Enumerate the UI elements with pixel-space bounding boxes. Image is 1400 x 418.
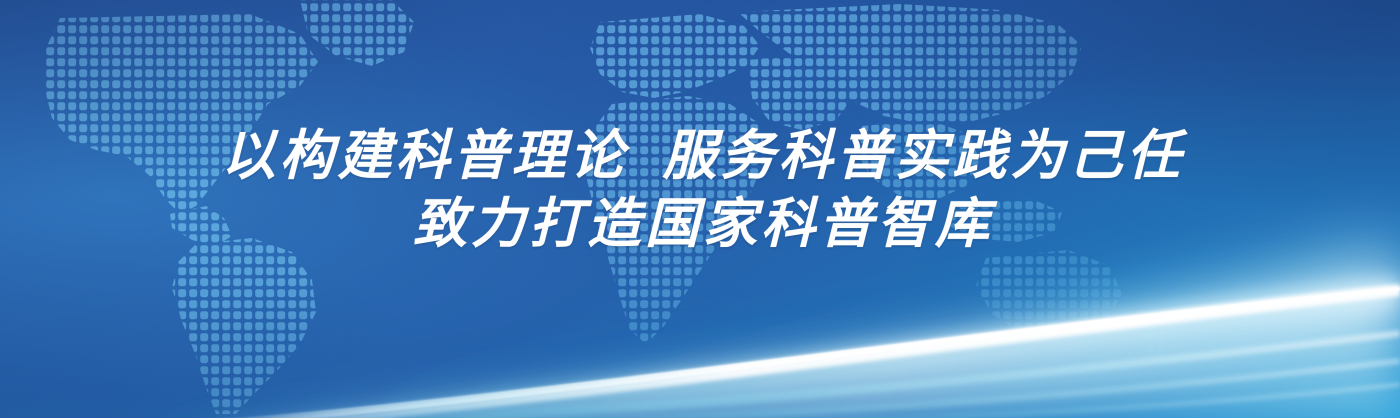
banner-headline: 以构建科普理论 服务科普实践为己任 致力打造国家科普智库 xyxy=(0,122,1400,258)
headline-line-1: 以构建科普理论 服务科普实践为己任 xyxy=(0,122,1400,190)
headline-line-2: 致力打造国家科普智库 xyxy=(0,190,1400,258)
promo-banner: 以构建科普理论 服务科普实践为己任 致力打造国家科普智库 xyxy=(0,0,1400,418)
